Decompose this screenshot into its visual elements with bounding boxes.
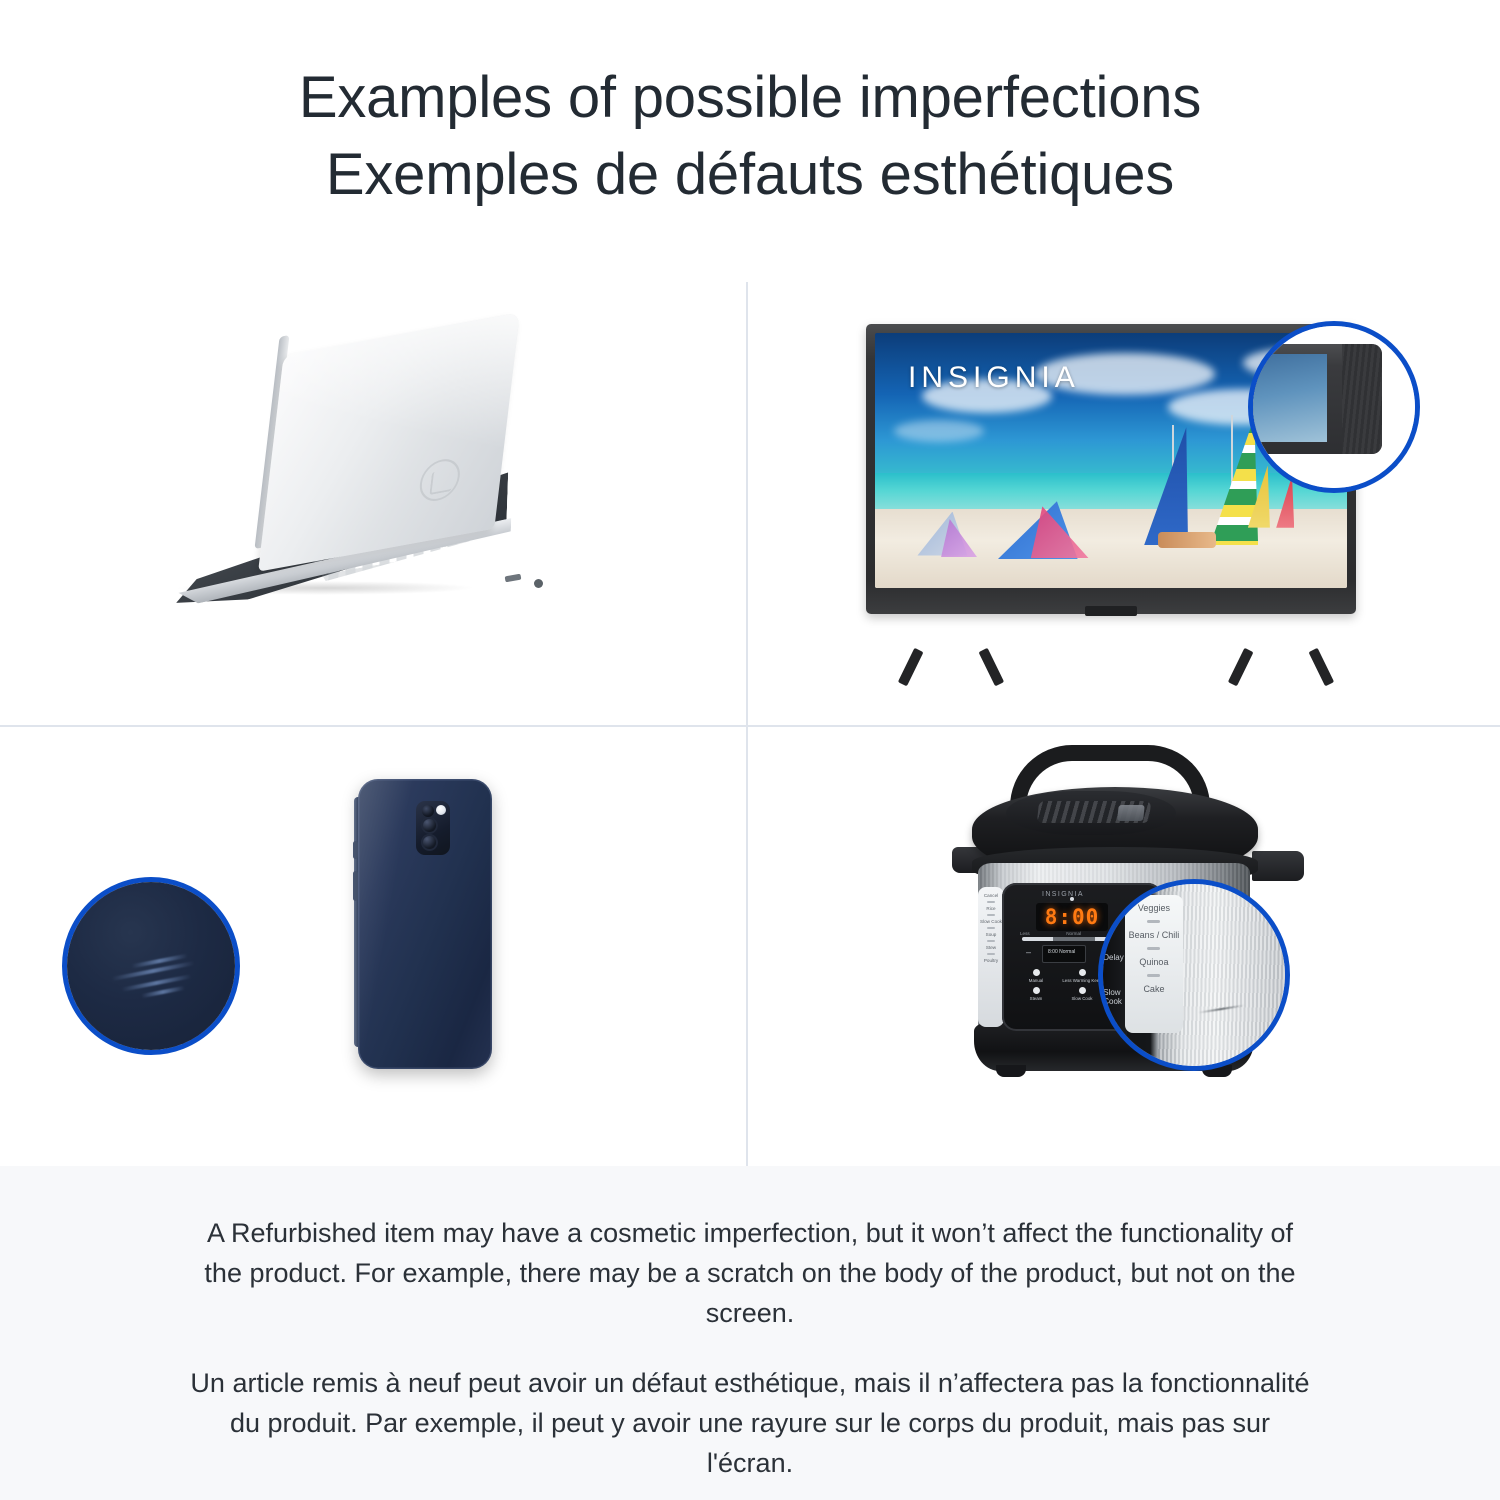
- tv-center-module: [1085, 606, 1137, 616]
- button-led-icon: [1033, 969, 1040, 976]
- button-led-icon: [1079, 969, 1086, 976]
- cooker-indicator-led: [1070, 897, 1074, 901]
- cooker-button-slow-cook[interactable]: Slow Cook: [1062, 987, 1102, 1001]
- page-title-en: Examples of possible imperfections: [0, 60, 1500, 137]
- laptop-brand-logo-icon: [418, 456, 463, 504]
- cooker-brand-label: INSIGNIA: [1042, 891, 1084, 898]
- button-led-icon: [1033, 987, 1040, 994]
- slider-label-normal: Normal: [1066, 931, 1081, 936]
- magnifier-content-cooker: Delay Slow Cook Veggies Beans / Chili Qu…: [1103, 884, 1285, 1066]
- camera-lens-icon: [421, 817, 438, 834]
- cooker-foot: [996, 1065, 1026, 1077]
- cooker-button-manual[interactable]: Manual: [1016, 969, 1056, 983]
- magnified-button-strip: Veggies Beans / Chili Quinoa Cake: [1125, 895, 1183, 1033]
- tv-corner-scuff: [1248, 344, 1382, 454]
- magnified-dark-label-0: Delay: [1103, 953, 1123, 962]
- magnified-button-0: Veggies: [1138, 903, 1170, 913]
- camera-flash-icon: [436, 805, 446, 815]
- cooker-left-button-strip[interactable]: Cancel Rice Slow Cook Soup Stew Poultry: [978, 887, 1004, 1027]
- cooker-display-time: 8:00: [1045, 905, 1100, 929]
- tv-stand-leg-left: [906, 650, 996, 686]
- cooker-image: Cancel Rice Slow Cook Soup Stew Poultry: [948, 739, 1308, 1099]
- cooker-display: 8:00: [1036, 903, 1108, 931]
- cooker-left-button-4[interactable]: Stew: [986, 945, 996, 950]
- phone-illustration: [0, 727, 746, 1166]
- cooker-button-keep-warm[interactable]: Less Warming Keep: [1062, 969, 1102, 983]
- phone-back-panel: [358, 779, 492, 1069]
- cooker-side-grip-right: [1252, 851, 1304, 881]
- phone-camera-module: [416, 801, 450, 855]
- button-separator: [1147, 947, 1160, 950]
- example-cell-tv: INSIGNIA: [748, 282, 1500, 727]
- cooker-left-button-2[interactable]: Slow Cook: [980, 919, 1002, 924]
- magnified-button-1: Beans / Chili: [1129, 930, 1180, 940]
- camera-lens-icon: [421, 834, 438, 851]
- disclaimer-text-en: A Refurbished item may have a cosmetic i…: [185, 1214, 1315, 1334]
- page-root: Examples of possible imperfections Exemp…: [0, 0, 1500, 1500]
- example-cell-phone: [0, 727, 748, 1166]
- magnified-panel-dark: Delay Slow Cook: [1103, 884, 1127, 1066]
- cooker-left-button-5[interactable]: Poultry: [984, 958, 998, 963]
- cooker-left-button-3[interactable]: Soup: [986, 932, 997, 937]
- cloud-shape: [894, 420, 984, 442]
- button-separator: [987, 927, 995, 929]
- cooker-vent-badge: [1117, 805, 1145, 821]
- footer-disclaimer: A Refurbished item may have a cosmetic i…: [0, 1166, 1500, 1500]
- cooker-left-buttons: Cancel Rice Slow Cook Soup Stew Poultry: [978, 887, 1004, 963]
- laptop-usb-port: [505, 574, 522, 583]
- magnified-button-3: Cake: [1143, 984, 1164, 994]
- tv-image: INSIGNIA: [866, 324, 1366, 654]
- magnifier-circle-phone: [62, 877, 240, 1055]
- cooker-button-label: Steam: [1030, 996, 1043, 1001]
- cooker-illustration: Cancel Rice Slow Cook Soup Stew Poultry: [748, 727, 1500, 1166]
- cooker-minus-button[interactable]: –: [1026, 947, 1031, 957]
- magnifier-circle-tv: [1248, 321, 1420, 493]
- cooker-mini-display: 8:00 Normal: [1042, 945, 1086, 963]
- disclaimer-text-fr: Un article remis à neuf peut avoir un dé…: [185, 1364, 1315, 1484]
- button-separator: [1147, 920, 1160, 923]
- slider-label-less: Less: [1020, 931, 1030, 936]
- page-header: Examples of possible imperfections Exemp…: [0, 0, 1500, 213]
- laptop-illustration: [0, 282, 746, 725]
- beached-boat-shape: [1158, 532, 1216, 548]
- tv-stand-leg-right: [1236, 650, 1326, 686]
- button-separator: [987, 940, 995, 942]
- example-cell-pressure-cooker: Cancel Rice Slow Cook Soup Stew Poultry: [748, 727, 1500, 1166]
- magnifier-content-tv: [1253, 326, 1415, 488]
- button-separator: [1147, 974, 1160, 977]
- phone-image: [310, 769, 530, 1119]
- laptop-image: [175, 337, 555, 637]
- tv-brand-label: INSIGNIA: [908, 361, 1080, 395]
- product-examples-grid: INSIGNIA: [0, 282, 1500, 1166]
- laptop-jack-port: [534, 579, 543, 588]
- cooker-button-label: Less Warming Keep: [1062, 978, 1101, 983]
- cooker-button-steam[interactable]: Steam: [1016, 987, 1056, 1001]
- button-led-icon: [1079, 987, 1086, 994]
- scratch-mark: [141, 985, 185, 997]
- magnified-button-2: Quinoa: [1139, 957, 1168, 967]
- cooker-mini-display-text: 8:00 Normal: [1048, 949, 1075, 955]
- button-separator: [987, 914, 995, 916]
- tv-illustration: INSIGNIA: [748, 282, 1500, 725]
- page-title-fr: Exemples de défauts esthétiques: [0, 137, 1500, 214]
- magnifier-content-phone: [67, 882, 235, 1050]
- example-cell-laptop: [0, 282, 748, 727]
- magnified-dark-label-1: Slow Cook: [1103, 988, 1126, 1006]
- button-separator: [987, 953, 995, 955]
- cooker-left-button-0[interactable]: Cancel: [984, 893, 998, 898]
- cooker-vent: [1037, 801, 1151, 823]
- camera-lens-icon: [422, 805, 434, 817]
- cooker-left-button-1[interactable]: Rice: [986, 906, 995, 911]
- cooker-button-label: Manual: [1029, 978, 1043, 983]
- button-separator: [987, 901, 995, 903]
- cooker-button-label: Slow Cook: [1072, 996, 1093, 1001]
- magnifier-circle-cooker: Delay Slow Cook Veggies Beans / Chili Qu…: [1098, 879, 1290, 1071]
